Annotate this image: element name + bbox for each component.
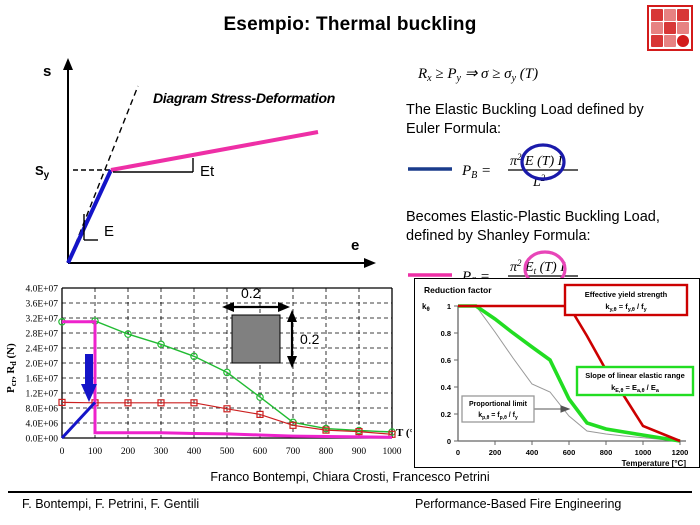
seal-glyph-3: [677, 9, 689, 21]
shanley-description-line1: Becomes Elastic-Plastic Buckling Load,: [406, 209, 660, 225]
strain-axis-label: e: [351, 237, 359, 254]
svg-text:π2 Et (T) I: π2 Et (T) I: [510, 258, 566, 276]
seal-glyph-5: [664, 22, 676, 34]
tangent-branch-line: [111, 132, 318, 170]
seal-glyph-grid: [651, 9, 689, 47]
svg-text:700: 700: [286, 447, 301, 457]
chart-right-title: Reduction factor: [424, 285, 492, 295]
svg-text:Proportional limit: Proportional limit: [469, 401, 528, 408]
svg-text:1.2E+07: 1.2E+07: [25, 390, 58, 400]
seal-glyph-2: [664, 9, 676, 21]
section-height-label: 0.2: [300, 331, 320, 347]
svg-text:0.8: 0.8: [441, 329, 451, 338]
svg-text:4.0E+06: 4.0E+06: [25, 420, 58, 430]
buckling-capacity-chart: 0.2 0.2 4.0E+07 3.6E+07 3.2E+07 2.8E+07 …: [0, 278, 412, 468]
svg-text:800: 800: [600, 448, 613, 457]
svg-text:3.2E+07: 3.2E+07: [25, 315, 58, 325]
euler-buckling-formula: PB = π2 E (T) I L2: [400, 141, 700, 193]
author-credit: Franco Bontempi, Chiara Crosti, Francesc…: [0, 470, 700, 484]
elastic-branch-line: [68, 170, 111, 263]
cross-section-annotation: 0.2 0.2: [222, 285, 320, 368]
chart-left-x-ticks: 0 100 200 300 400 500 600 700 800 900 10…: [60, 447, 402, 457]
svg-text:Slope of linear elastic range: Slope of linear elastic range: [585, 371, 685, 380]
euler-description-line2: Euler Formula:: [406, 121, 501, 137]
svg-text:600: 600: [563, 448, 576, 457]
svg-text:900: 900: [352, 447, 367, 457]
svg-text:PB =: PB =: [461, 163, 491, 181]
seal-glyph-7: [651, 35, 663, 47]
svg-text:Rx ≥ Py ⇒ σ ≥ σy (T): Rx ≥ Py ⇒ σ ≥ σy (T): [417, 66, 538, 84]
svg-text:500: 500: [220, 447, 235, 457]
svg-text:1000: 1000: [635, 448, 652, 457]
page-title: Esempio: Thermal buckling: [0, 14, 700, 36]
svg-text:1: 1: [447, 302, 451, 311]
seal-glyph-1: [651, 9, 663, 21]
seal-dot-icon: [677, 35, 689, 47]
svg-text:200: 200: [121, 447, 136, 457]
svg-text:600: 600: [253, 447, 268, 457]
tangent-slope-marker: [113, 158, 193, 172]
slope-linear-elastic-range-box: Slope of linear elastic range kE,θ = Ea,…: [577, 367, 693, 395]
svg-text:0: 0: [447, 437, 451, 446]
svg-text:Effective yield strength: Effective yield strength: [585, 290, 668, 299]
svg-text:1200: 1200: [672, 448, 689, 457]
seal-glyph-6: [677, 22, 689, 34]
chart-left-grid: [62, 288, 392, 438]
svg-text:0.2: 0.2: [441, 410, 451, 419]
diagram-caption: Diagram Stress-Deformation: [153, 90, 335, 106]
red-seal-logo: [647, 5, 693, 51]
euler-description: The Elastic Buckling Load defined by Eul…: [406, 101, 700, 139]
chart-left-x-axis-title: T (°C): [396, 427, 412, 439]
svg-text:4.0E+07: 4.0E+07: [25, 285, 58, 295]
svg-text:π2 E (T) I: π2 E (T) I: [510, 152, 564, 169]
footer-left-text: F. Bontempi, F. Petrini, F. Gentili: [22, 497, 199, 511]
svg-text:200: 200: [489, 448, 502, 457]
tangent-modulus-label: Et: [200, 163, 215, 180]
svg-text:L2: L2: [532, 173, 546, 190]
svg-text:0.6: 0.6: [441, 356, 451, 365]
stress-deformation-diagram: s e Sy E Et Diagram Stress-Deformation: [18, 48, 398, 276]
yield-condition-equation: Rx ≥ Py ⇒ σ ≥ σy (T): [400, 58, 700, 86]
section-width-label: 0.2: [241, 285, 261, 301]
footer-right-text: Performance-Based Fire Engineering: [415, 497, 621, 511]
section-swatch: [232, 315, 280, 363]
svg-text:2.8E+07: 2.8E+07: [25, 330, 58, 340]
theory-column: Rx ≥ Py ⇒ σ ≥ σy (T) The Elastic Bucklin…: [400, 58, 700, 304]
chart-left-y-ticks: 4.0E+07 3.6E+07 3.2E+07 2.8E+07 2.4E+07 …: [25, 285, 58, 445]
svg-text:2.4E+07: 2.4E+07: [25, 345, 58, 355]
elastic-modulus-label: E: [104, 223, 114, 240]
euler-description-line1: The Elastic Buckling Load defined by: [406, 102, 644, 118]
svg-text:0.0E+00: 0.0E+00: [25, 435, 58, 445]
svg-text:0: 0: [456, 448, 460, 457]
svg-text:100: 100: [88, 447, 103, 457]
stress-axis-label: s: [43, 63, 51, 80]
seal-glyph-8: [664, 35, 676, 47]
svg-text:400: 400: [526, 448, 539, 457]
svg-text:1.6E+07: 1.6E+07: [25, 375, 58, 385]
reduction-factor-chart: Reduction factor kθ Effective yield s: [414, 278, 700, 468]
svg-text:0: 0: [60, 447, 65, 457]
svg-text:300: 300: [154, 447, 169, 457]
yield-stress-label: Sy: [35, 163, 50, 181]
effective-yield-strength-box: Effective yield strength ky,θ = fy,θ / f…: [565, 285, 687, 315]
shanley-description: Becomes Elastic-Plastic Buckling Load, d…: [406, 208, 700, 246]
seal-glyph-4: [651, 22, 663, 34]
svg-text:8.0E+06: 8.0E+06: [25, 405, 58, 415]
svg-text:800: 800: [319, 447, 334, 457]
footer-divider: [8, 491, 692, 493]
shanley-description-line2: defined by Shanley Formula:: [406, 228, 591, 244]
chart-left-y-axis-title: Pcr, Rd (N): [5, 343, 18, 393]
chart-right-x-axis-title: Temperature [°C]: [622, 459, 687, 468]
svg-text:1000: 1000: [383, 447, 402, 457]
svg-text:3.6E+07: 3.6E+07: [25, 300, 58, 310]
svg-text:0.4: 0.4: [441, 383, 452, 392]
svg-text:400: 400: [187, 447, 202, 457]
proportional-limit-box: Proportional limit kp,θ = fp,θ / fy: [462, 396, 534, 422]
svg-text:2.0E+07: 2.0E+07: [25, 360, 58, 370]
